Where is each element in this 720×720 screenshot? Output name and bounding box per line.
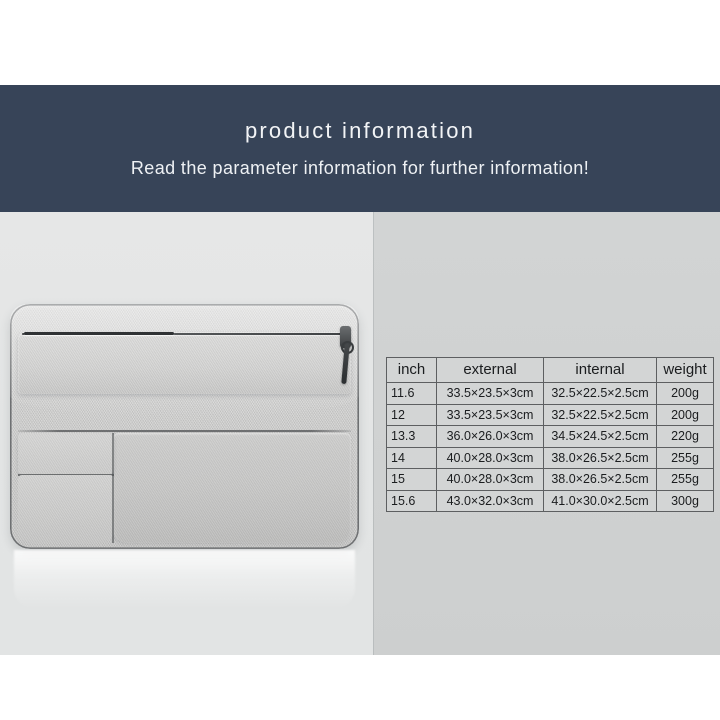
- column-header-inch: inch: [387, 358, 437, 383]
- specification-table: inch external internal weight 11.6 33.5×…: [386, 357, 714, 512]
- product-photo-pane: [0, 212, 373, 655]
- cell-internal: 32.5×22.5×2.5cm: [544, 383, 657, 405]
- spec-table-pane: inch external internal weight 11.6 33.5×…: [373, 212, 720, 655]
- cell-inch: 15.6: [387, 490, 437, 512]
- cell-weight: 300g: [657, 490, 714, 512]
- column-header-internal: internal: [544, 358, 657, 383]
- cell-inch: 14: [387, 447, 437, 469]
- cell-internal: 38.0×26.5×2.5cm: [544, 447, 657, 469]
- laptop-sleeve-image: [10, 304, 359, 549]
- cell-inch: 13.3: [387, 426, 437, 448]
- cell-internal: 34.5×24.5×2.5cm: [544, 426, 657, 448]
- vertical-seam: [112, 433, 114, 543]
- cell-external: 33.5×23.5×3cm: [437, 383, 544, 405]
- left-lower-pocket: [18, 475, 114, 543]
- cell-weight: 200g: [657, 404, 714, 426]
- product-information-page: product information Read the parameter i…: [0, 0, 720, 720]
- zipper-track-open: [24, 332, 174, 335]
- cell-inch: 11.6: [387, 383, 437, 405]
- cell-weight: 255g: [657, 469, 714, 491]
- column-header-weight: weight: [657, 358, 714, 383]
- top-zip-pocket: [18, 332, 351, 394]
- cell-internal: 41.0×30.0×2.5cm: [544, 490, 657, 512]
- table-row: 12 33.5×23.5×3cm 32.5×22.5×2.5cm 200g: [387, 404, 714, 426]
- table-header-row: inch external internal weight: [387, 358, 714, 383]
- cell-external: 33.5×23.5×3cm: [437, 404, 544, 426]
- spec-table-wrapper: inch external internal weight 11.6 33.5×…: [386, 357, 713, 512]
- cell-external: 36.0×26.0×3cm: [437, 426, 544, 448]
- column-header-external: external: [437, 358, 544, 383]
- cell-external: 40.0×28.0×3cm: [437, 469, 544, 491]
- header-banner: product information Read the parameter i…: [0, 85, 720, 212]
- page-subtitle: Read the parameter information for furth…: [131, 159, 589, 177]
- table-row: 15.6 43.0×32.0×3cm 41.0×30.0×2.5cm 300g: [387, 490, 714, 512]
- cell-internal: 32.5×22.5×2.5cm: [544, 404, 657, 426]
- content-area: inch external internal weight 11.6 33.5×…: [0, 212, 720, 655]
- front-large-pocket: [113, 433, 351, 543]
- table-row: 13.3 36.0×26.0×3cm 34.5×24.5×2.5cm 220g: [387, 426, 714, 448]
- horizontal-seam: [18, 430, 351, 432]
- table-row: 14 40.0×28.0×3cm 38.0×26.5×2.5cm 255g: [387, 447, 714, 469]
- table-row: 15 40.0×28.0×3cm 38.0×26.5×2.5cm 255g: [387, 469, 714, 491]
- cell-weight: 200g: [657, 383, 714, 405]
- cell-external: 40.0×28.0×3cm: [437, 447, 544, 469]
- surface-reflection: [14, 550, 355, 610]
- left-upper-pocket: [18, 433, 114, 474]
- table-row: 11.6 33.5×23.5×3cm 32.5×22.5×2.5cm 200g: [387, 383, 714, 405]
- cell-internal: 38.0×26.5×2.5cm: [544, 469, 657, 491]
- cell-weight: 255g: [657, 447, 714, 469]
- cell-inch: 15: [387, 469, 437, 491]
- cell-external: 43.0×32.0×3cm: [437, 490, 544, 512]
- page-title: product information: [245, 120, 475, 142]
- cell-inch: 12: [387, 404, 437, 426]
- pane-divider: [373, 212, 374, 655]
- cell-weight: 220g: [657, 426, 714, 448]
